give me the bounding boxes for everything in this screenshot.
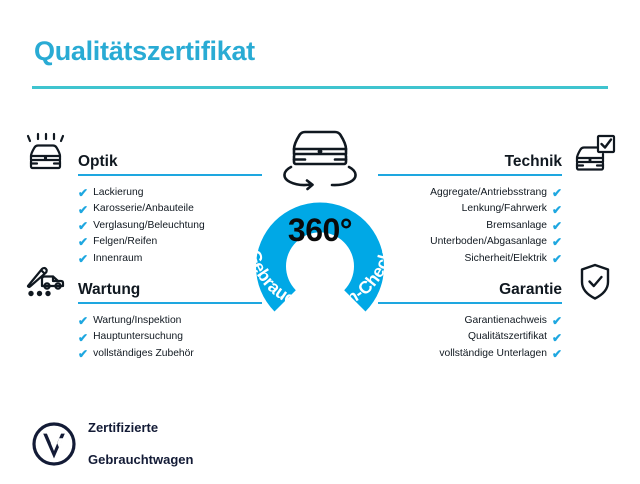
title-divider	[32, 86, 608, 89]
list-item-label: Aggregate/Antriebsstrang	[430, 185, 547, 201]
car-checkbox-icon	[572, 132, 618, 176]
certificate-page: Qualitätszertifikat Optik ✔Lackierung	[0, 0, 640, 480]
checklist-garantie: Garantienachweis✔ Qualitätszertifikat✔ v…	[368, 313, 618, 362]
list-item-label: Hauptuntersuchung	[93, 329, 183, 345]
check-icon: ✔	[78, 348, 88, 360]
check-icon: ✔	[552, 236, 562, 248]
footer-line-2: Gebrauchtwagen	[88, 452, 193, 468]
list-item: ✔vollständiges Zubehör	[78, 346, 272, 362]
check-icon: ✔	[78, 204, 88, 216]
list-item: Qualitätszertifikat✔	[368, 329, 562, 345]
list-item-label: vollständige Unterlagen	[439, 346, 547, 362]
check-icon: ✔	[552, 204, 562, 216]
car-shine-icon	[22, 132, 68, 176]
list-item: vollständige Unterlagen✔	[368, 346, 562, 362]
list-item-label: Verglasung/Beleuchtung	[93, 218, 205, 234]
volkswagen-logo	[32, 422, 76, 466]
check-icon: ✔	[552, 348, 562, 360]
list-item-label: Lackierung	[93, 185, 143, 201]
badge-360-gebrauchtwagen-check: Gebrauchtwagen-Check 360°	[228, 118, 412, 314]
car-wrench-icon	[22, 260, 68, 304]
list-item-label: Garantienachweis	[465, 313, 547, 329]
check-icon: ✔	[552, 315, 562, 327]
car-rotation-icon	[284, 132, 355, 189]
list-item: Garantienachweis✔	[368, 313, 562, 329]
checklist-wartung: ✔Wartung/Inspektion ✔Hauptuntersuchung ✔…	[22, 313, 272, 362]
list-item-label: Lenkung/Fahrwerk	[462, 201, 547, 217]
shield-check-icon	[572, 260, 618, 304]
footer-text: Zertifizierte Gebrauchtwagen	[88, 404, 193, 484]
list-item: ✔Hauptuntersuchung	[78, 329, 272, 345]
check-icon: ✔	[78, 332, 88, 344]
page-title: Qualitätszertifikat	[34, 36, 255, 67]
check-icon: ✔	[552, 332, 562, 344]
footer-line-1: Zertifizierte	[88, 420, 193, 436]
list-item: ✔Wartung/Inspektion	[78, 313, 272, 329]
list-item-label: Karosserie/Anbauteile	[93, 201, 194, 217]
list-item-label: Bremsanlage	[486, 218, 547, 234]
list-item-label: Unterboden/Abgasanlage	[430, 234, 547, 250]
list-item-label: Wartung/Inspektion	[93, 313, 181, 329]
check-icon: ✔	[78, 220, 88, 232]
list-item-label: Qualitätszertifikat	[468, 329, 547, 345]
check-icon: ✔	[552, 220, 562, 232]
check-icon: ✔	[78, 315, 88, 327]
check-icon: ✔	[552, 187, 562, 199]
check-icon: ✔	[78, 236, 88, 248]
check-icon: ✔	[78, 187, 88, 199]
footer-branding: Zertifizierte Gebrauchtwagen	[32, 404, 193, 484]
list-item-label: Felgen/Reifen	[93, 234, 157, 250]
list-item-label: vollständiges Zubehör	[93, 346, 194, 362]
